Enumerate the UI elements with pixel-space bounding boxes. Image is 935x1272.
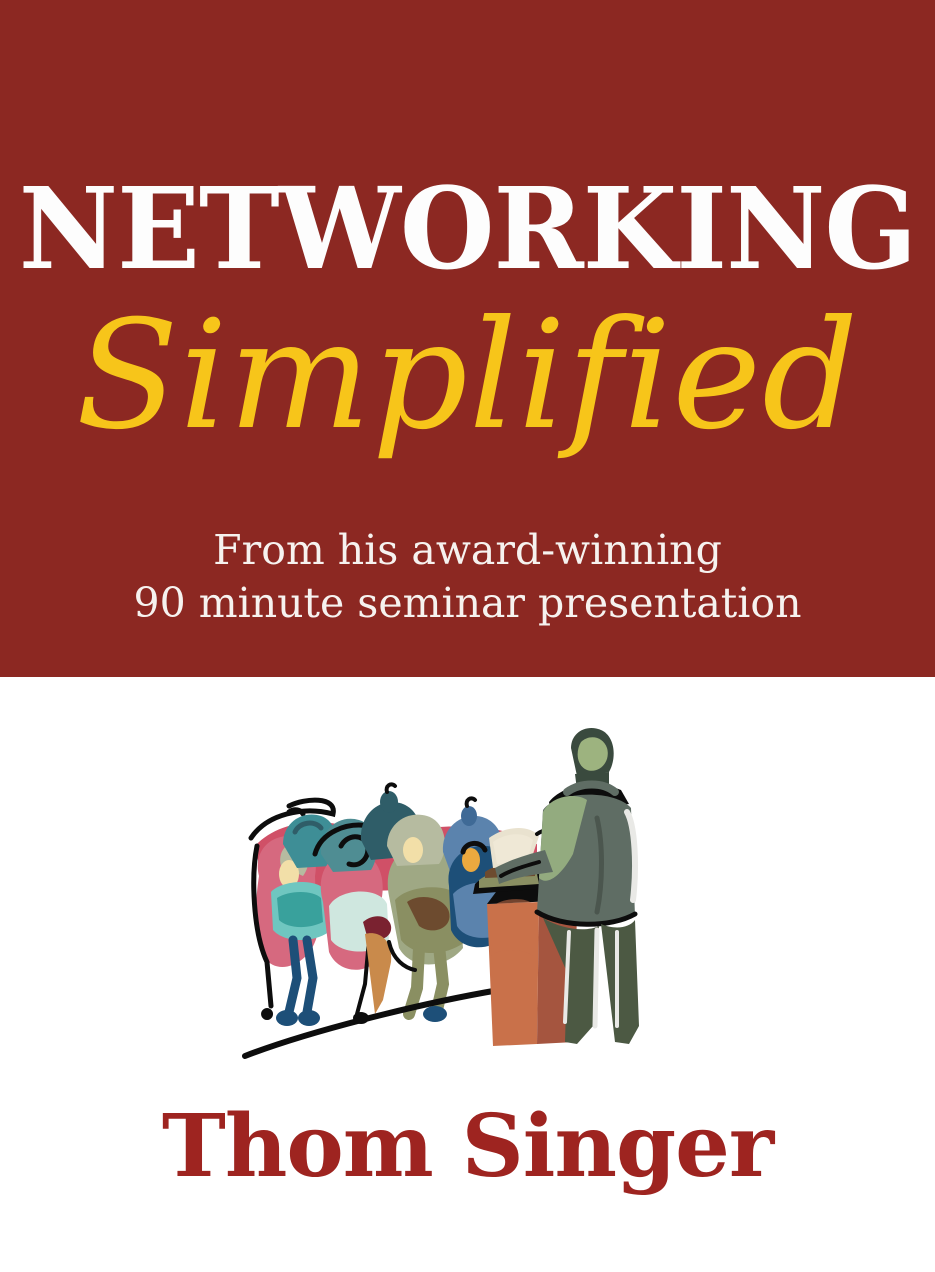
book-cover: NETWORKING Simplified From his award-win… [0, 0, 935, 1272]
seminar-speaker-audience-illustration [237, 726, 667, 1076]
page-title: NETWORKING [14, 174, 921, 286]
author-name: Thom Singer [0, 1104, 935, 1190]
title-subword-script: Simplified [0, 288, 935, 465]
subtitle: From his award-winning 90 minute seminar… [0, 524, 935, 631]
subtitle-line-1: From his award-winning [0, 524, 935, 577]
subtitle-line-2: 90 minute seminar presentation [0, 577, 935, 630]
